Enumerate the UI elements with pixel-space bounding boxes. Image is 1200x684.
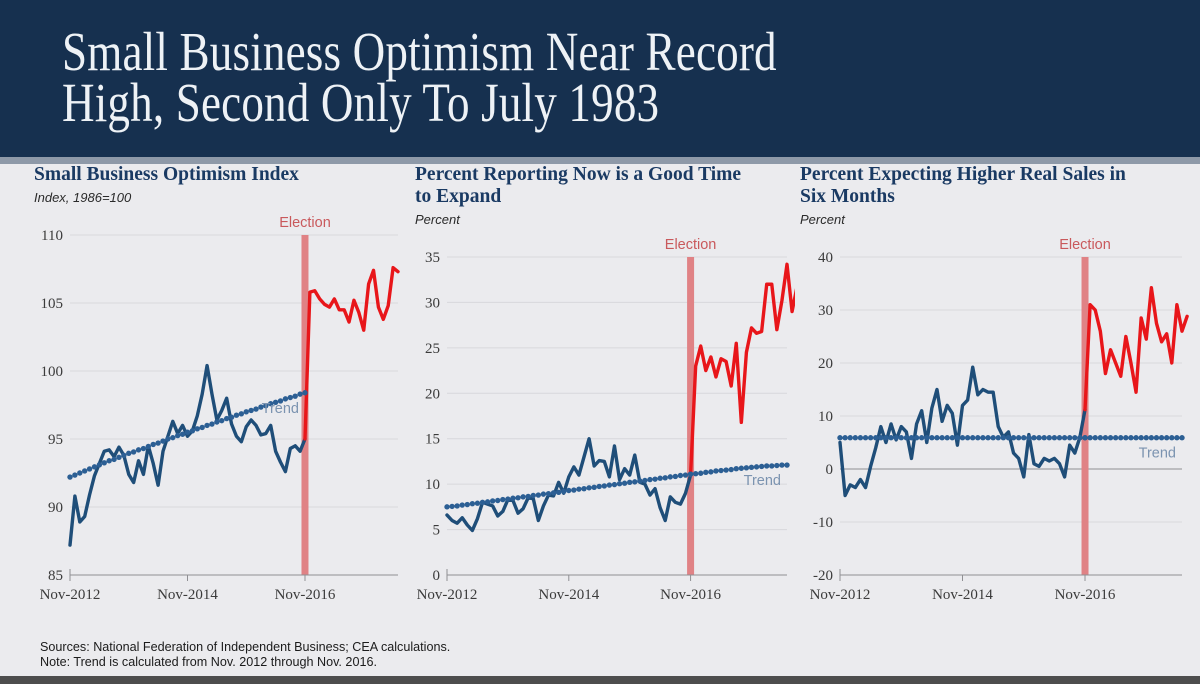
trend-dot: [581, 486, 586, 491]
trend-dot: [297, 391, 302, 396]
footer-bar: [0, 676, 1200, 684]
trend-dot: [718, 468, 723, 473]
trend-dot: [1036, 435, 1041, 440]
trend-dot: [888, 435, 893, 440]
y-tick-label: -10: [813, 515, 833, 531]
y-tick-label: 85: [48, 568, 63, 584]
trend-dot: [586, 485, 591, 490]
trend-dot: [708, 469, 713, 474]
trend-dot: [668, 474, 673, 479]
trend-dot: [204, 423, 209, 428]
y-tick-label: 10: [818, 409, 833, 425]
trend-dot: [909, 435, 914, 440]
trend-dot: [657, 476, 662, 481]
trend-dot: [597, 484, 602, 489]
trend-dot: [744, 465, 749, 470]
chart-panel-good-time-to-expand: Percent Reporting Now is a Good Time to …: [415, 164, 795, 650]
chart-axis-unit-label: Percent: [415, 212, 795, 227]
trend-dot: [929, 435, 934, 440]
trend-dot: [234, 413, 239, 418]
trend-dot: [970, 435, 975, 440]
trend-dot: [1154, 435, 1159, 440]
trend-dot: [576, 486, 581, 491]
trend-dot: [121, 453, 126, 458]
y-tick-label: 15: [425, 432, 440, 448]
trend-dot: [1031, 435, 1036, 440]
trend-dot: [842, 435, 847, 440]
trend-dot: [837, 435, 842, 440]
trend-dot: [244, 409, 249, 414]
trend-dot: [72, 472, 77, 477]
trend-dot: [678, 473, 683, 478]
trend-dot: [1118, 435, 1123, 440]
trend-dot: [449, 504, 454, 509]
trend-dot: [1174, 435, 1179, 440]
y-tick-label: 110: [41, 228, 63, 244]
trend-dot: [996, 435, 1001, 440]
trend-dot: [1128, 435, 1133, 440]
trend-dot: [170, 435, 175, 440]
trend-dot: [87, 466, 92, 471]
x-tick-label: Nov-2014: [538, 587, 599, 603]
y-tick-label: 90: [48, 500, 63, 516]
trend-dot: [151, 442, 156, 447]
trend-dot: [1006, 435, 1011, 440]
trend-dot: [693, 471, 698, 476]
trend-dot: [904, 435, 909, 440]
y-tick-label: 10: [425, 477, 440, 493]
trend-dot: [728, 467, 733, 472]
trend-dot: [141, 446, 146, 451]
trend-dot: [1113, 435, 1118, 440]
trend-dot: [155, 440, 160, 445]
trend-label: Trend: [1139, 446, 1176, 462]
trend-dot: [480, 500, 485, 505]
election-label: Election: [279, 215, 331, 231]
trend-dot: [239, 411, 244, 416]
trend-dot: [1072, 435, 1077, 440]
trend-dot: [1108, 435, 1113, 440]
header-banner: Small Business Optimism Near Record High…: [0, 0, 1200, 157]
chart-svg-small-business-optimism-index: 110105100959085ElectionTrendNov-2012Nov-…: [34, 207, 406, 627]
election-label: Election: [665, 237, 717, 253]
trend-dot: [914, 435, 919, 440]
trend-dot: [214, 419, 219, 424]
trend-dot: [1077, 435, 1082, 440]
trend-dot: [1098, 435, 1103, 440]
trend-dot: [1133, 435, 1138, 440]
trend-dot: [77, 470, 82, 475]
trend-dot: [146, 444, 151, 449]
trend-dot: [939, 435, 944, 440]
y-tick-label: 35: [425, 250, 440, 266]
x-tick-label: Nov-2016: [1055, 587, 1116, 603]
trend-dot: [873, 435, 878, 440]
trend-dot: [683, 472, 688, 477]
trend-dot: [764, 463, 769, 468]
trend-dot: [136, 447, 141, 452]
trend-dot: [199, 425, 204, 430]
trend-dot: [525, 494, 530, 499]
trend-dot: [955, 435, 960, 440]
trend-dot: [883, 435, 888, 440]
trend-dot: [165, 436, 170, 441]
trend-dot: [975, 435, 980, 440]
trend-dot: [1082, 435, 1087, 440]
trend-dot: [612, 482, 617, 487]
trend-dot: [868, 435, 873, 440]
trend-dot: [520, 494, 525, 499]
y-tick-label: 100: [41, 364, 64, 380]
y-tick-label: 30: [818, 303, 833, 319]
x-tick-label: Nov-2012: [810, 587, 871, 603]
chart-axis-unit-label: Percent: [800, 212, 1190, 227]
data-line: [691, 264, 795, 475]
chart-panel-higher-real-sales: Percent Expecting Higher Real Sales in S…: [800, 164, 1190, 650]
trend-dot: [495, 498, 500, 503]
trend-dot: [960, 435, 965, 440]
trend-dot: [111, 457, 116, 462]
x-tick-label: Nov-2016: [275, 587, 336, 603]
trend-dot: [1144, 435, 1149, 440]
trend-dot: [1026, 435, 1031, 440]
trend-dot: [617, 481, 622, 486]
trend-dot: [1138, 435, 1143, 440]
y-tick-label: 30: [425, 295, 440, 311]
trend-dot: [195, 426, 200, 431]
trend-dot: [647, 477, 652, 482]
trend-dot: [219, 418, 224, 423]
trend-dot: [546, 491, 551, 496]
trend-dot: [749, 465, 754, 470]
trend-dot: [1149, 435, 1154, 440]
footnotes: Sources: National Federation of Independ…: [40, 640, 740, 669]
data-line: [1085, 288, 1187, 410]
y-tick-label: 25: [425, 341, 440, 357]
trend-dot: [500, 497, 505, 502]
chart-svg-percent-expecting-higher-real-sales: 403020100-10-20ElectionTrendNov-2012Nov-…: [800, 229, 1190, 627]
trend-dot: [632, 479, 637, 484]
trend-dot: [209, 421, 214, 426]
sources-line: Sources: National Federation of Independ…: [40, 640, 740, 655]
trend-dot: [102, 460, 107, 465]
trend-dot: [673, 474, 678, 479]
charts-container: Small Business Optimism Index Index, 198…: [0, 164, 1200, 650]
header-divider: [0, 157, 1200, 164]
trend-dot: [160, 438, 165, 443]
trend-dot: [893, 435, 898, 440]
trend-dot: [1001, 435, 1006, 440]
trend-dot: [853, 435, 858, 440]
trend-dot: [1067, 435, 1072, 440]
trend-dot: [703, 470, 708, 475]
trend-dot: [739, 466, 744, 471]
trend-dot: [185, 430, 190, 435]
trend-dot: [131, 449, 136, 454]
chart-title: Percent Reporting Now is a Good Time to …: [415, 164, 795, 208]
trend-dot: [899, 435, 904, 440]
data-line: [305, 268, 398, 439]
trend-dot: [698, 471, 703, 476]
trend-dot: [531, 493, 536, 498]
trend-dot: [919, 435, 924, 440]
trend-dot: [224, 416, 229, 421]
trend-dot: [944, 435, 949, 440]
y-tick-label: 105: [41, 296, 64, 312]
data-line: [70, 366, 305, 546]
trend-dot: [510, 496, 515, 501]
trend-dot: [1164, 435, 1169, 440]
trend-dot: [566, 488, 571, 493]
plot-area: 403020100-10-20ElectionTrendNov-2012Nov-…: [800, 229, 1190, 627]
trend-dot: [642, 478, 647, 483]
trend-dot: [490, 498, 495, 503]
trend-dot: [1087, 435, 1092, 440]
trend-dot: [460, 502, 465, 507]
trend-dot: [1021, 435, 1026, 440]
trend-dot: [1103, 435, 1108, 440]
trend-dot: [723, 467, 728, 472]
trend-dot: [82, 468, 87, 473]
trend-dot: [713, 468, 718, 473]
trend-dot: [622, 481, 627, 486]
chart-axis-unit-label: Index, 1986=100: [34, 190, 406, 205]
trend-dot: [1159, 435, 1164, 440]
trend-dot: [97, 462, 102, 467]
trend-dot: [551, 490, 556, 495]
trend-dot: [734, 466, 739, 471]
y-tick-label: 0: [433, 568, 441, 584]
trend-dot: [688, 471, 693, 476]
trend-dot: [1052, 435, 1057, 440]
trend-dot: [848, 435, 853, 440]
trend-dot: [67, 474, 72, 479]
trend-dot: [602, 483, 607, 488]
election-label: Election: [1059, 237, 1111, 253]
y-tick-label: -20: [813, 568, 833, 584]
trend-dot: [858, 435, 863, 440]
trend-dot: [485, 499, 490, 504]
y-tick-label: 0: [826, 462, 834, 478]
trend-dot: [591, 485, 596, 490]
trend-dot: [1123, 435, 1128, 440]
chart-title: Percent Expecting Higher Real Sales in S…: [800, 164, 1190, 208]
y-tick-label: 40: [818, 250, 833, 266]
trend-dot: [556, 490, 561, 495]
trend-label: Trend: [262, 401, 299, 417]
trend-dot: [637, 478, 642, 483]
chart-title: Small Business Optimism Index: [34, 164, 406, 186]
trend-dot: [180, 432, 185, 437]
trend-dot: [444, 504, 449, 509]
page-title: Small Business Optimism Near Record High…: [62, 26, 995, 128]
trend-dot: [1093, 435, 1098, 440]
trend-dot: [505, 496, 510, 501]
trend-dot: [607, 482, 612, 487]
trend-dot: [1179, 435, 1184, 440]
trend-dot: [950, 435, 955, 440]
trend-dot: [784, 462, 789, 467]
trend-dot: [863, 435, 868, 440]
trend-dot: [292, 393, 297, 398]
trend-dot: [106, 458, 111, 463]
trend-dot: [302, 390, 307, 395]
trend-label: Trend: [744, 473, 781, 489]
trend-dot: [454, 503, 459, 508]
y-tick-label: 95: [48, 432, 63, 448]
x-tick-label: Nov-2012: [417, 587, 478, 603]
trend-dot: [571, 487, 576, 492]
trend-dot: [759, 464, 764, 469]
trend-dot: [465, 502, 470, 507]
trend-dot: [980, 435, 985, 440]
trend-dot: [1062, 435, 1067, 440]
trend-dot: [627, 480, 632, 485]
trend-dot: [475, 501, 480, 506]
note-line: Note: Trend is calculated from Nov. 2012…: [40, 655, 740, 670]
trend-dot: [1011, 435, 1016, 440]
trend-dot: [1169, 435, 1174, 440]
trend-dot: [229, 415, 234, 420]
y-tick-label: 5: [433, 523, 441, 539]
trend-dot: [1047, 435, 1052, 440]
chart-panel-optimism-index: Small Business Optimism Index Index, 198…: [34, 164, 406, 650]
trend-dot: [561, 489, 566, 494]
trend-dot: [126, 451, 131, 456]
trend-dot: [515, 495, 520, 500]
trend-dot: [1016, 435, 1021, 440]
trend-dot: [652, 476, 657, 481]
plot-area: 110105100959085ElectionTrendNov-2012Nov-…: [34, 207, 406, 627]
trend-dot: [754, 464, 759, 469]
trend-dot: [288, 395, 293, 400]
trend-dot: [779, 462, 784, 467]
data-line: [840, 367, 1085, 495]
trend-dot: [253, 406, 258, 411]
plot-area: 35302520151050ElectionTrendNov-2012Nov-2…: [415, 229, 795, 627]
trend-dot: [175, 433, 180, 438]
trend-dot: [769, 463, 774, 468]
x-tick-label: Nov-2012: [40, 587, 101, 603]
chart-svg-percent-good-time-to-expand: 35302520151050ElectionTrendNov-2012Nov-2…: [415, 229, 795, 627]
trend-dot: [1057, 435, 1062, 440]
y-tick-label: 20: [425, 386, 440, 402]
trend-dot: [92, 464, 97, 469]
trend-dot: [774, 463, 779, 468]
trend-dot: [541, 491, 546, 496]
trend-dot: [470, 501, 475, 506]
trend-dot: [1041, 435, 1046, 440]
x-tick-label: Nov-2016: [660, 587, 721, 603]
trend-dot: [924, 435, 929, 440]
trend-dot: [990, 435, 995, 440]
x-tick-label: Nov-2014: [157, 587, 218, 603]
trend-dot: [536, 492, 541, 497]
y-tick-label: 20: [818, 356, 833, 372]
trend-dot: [934, 435, 939, 440]
trend-dot: [248, 408, 253, 413]
trend-dot: [878, 435, 883, 440]
trend-dot: [116, 455, 121, 460]
trend-dot: [965, 435, 970, 440]
x-tick-label: Nov-2014: [932, 587, 993, 603]
trend-dot: [985, 435, 990, 440]
trend-dot: [190, 428, 195, 433]
trend-dot: [663, 475, 668, 480]
